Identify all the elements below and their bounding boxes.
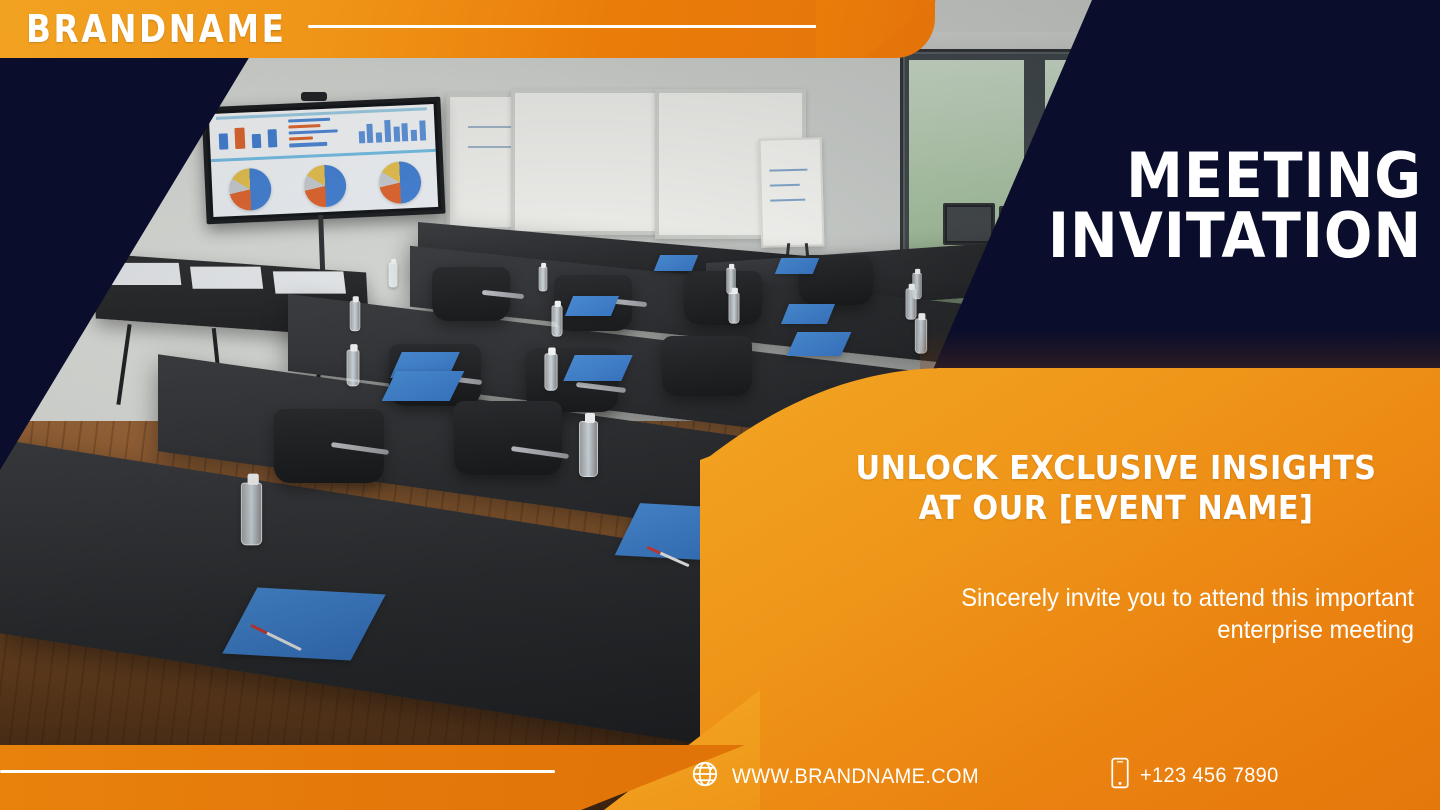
- headline: UNLOCK EXCLUSIVE INSIGHTS AT OUR [EVENT …: [840, 448, 1392, 528]
- invitation-banner: BRANDNAME MEETING INVITATION UNLOCK EXCL…: [0, 0, 1440, 810]
- header-divider-line: [308, 25, 848, 28]
- headline-line-2: AT OUR [EVENT NAME]: [840, 488, 1392, 528]
- globe-icon: [690, 759, 720, 794]
- contact-website[interactable]: WWW.BRANDNAME.COM: [690, 759, 992, 794]
- website-text: WWW.BRANDNAME.COM: [732, 765, 979, 789]
- phone-text: +123 456 7890: [1140, 764, 1279, 788]
- headline-line-1: UNLOCK EXCLUSIVE INSIGHTS: [855, 448, 1376, 487]
- contact-phone[interactable]: +123 456 7890: [1110, 757, 1286, 794]
- subtext-line-1: Sincerely invite you to attend this impo…: [961, 584, 1414, 612]
- mobile-phone-icon: [1110, 757, 1130, 794]
- page-title: MEETING INVITATION: [980, 146, 1422, 266]
- subtext-line-2: enterprise meeting: [1217, 616, 1414, 644]
- title-line-2: INVITATION: [980, 206, 1422, 266]
- footer-divider-line: [0, 770, 555, 773]
- subtext: Sincerely invite you to attend this impo…: [825, 582, 1414, 646]
- brand-name: BRANDNAME: [26, 9, 287, 49]
